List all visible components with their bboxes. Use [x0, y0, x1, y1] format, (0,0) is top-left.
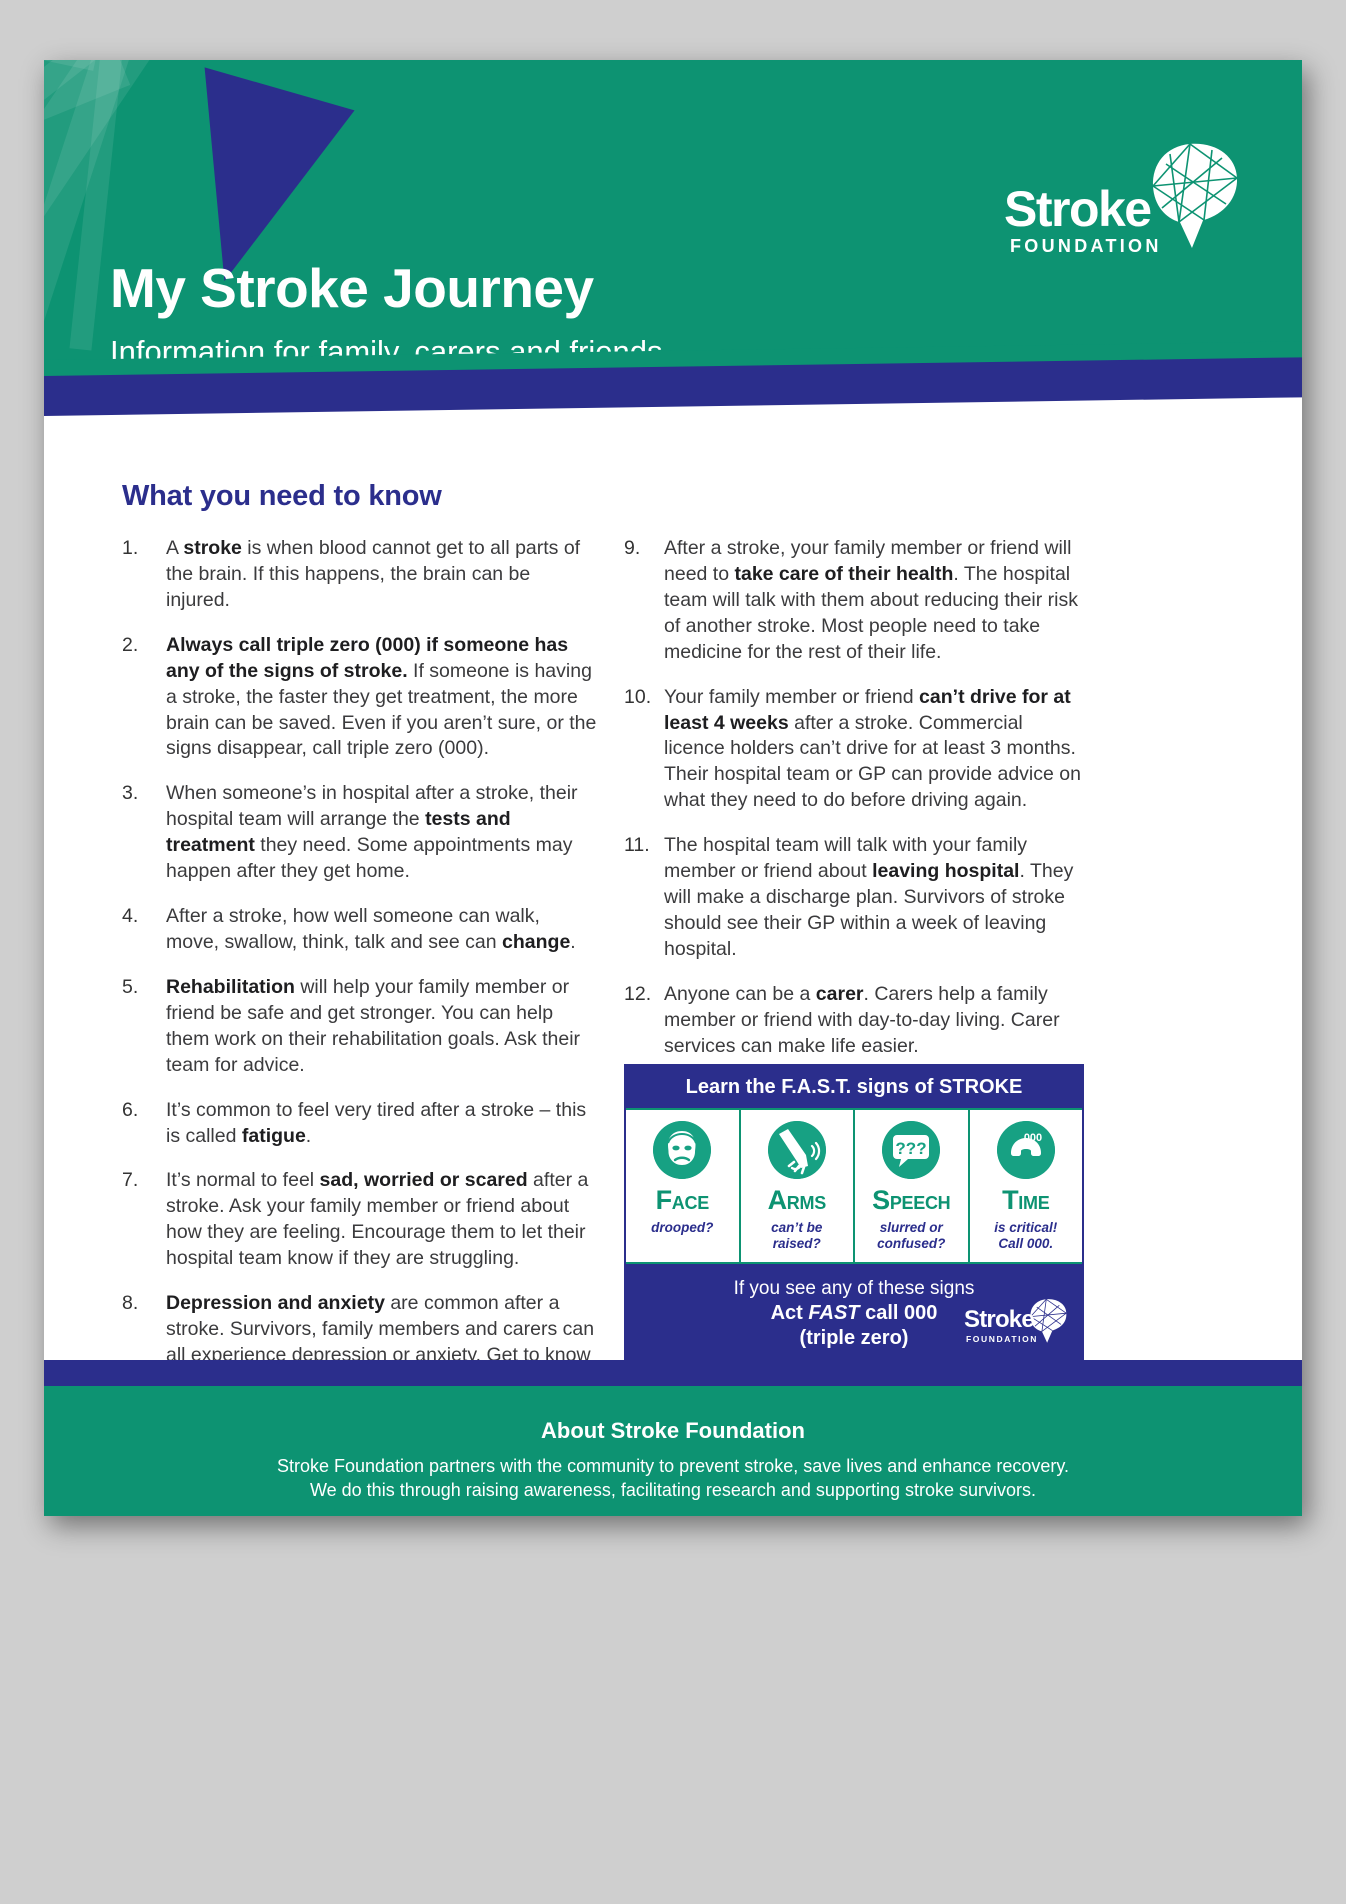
svg-text:???: ???: [896, 1139, 927, 1158]
fast-note: drooped?: [651, 1220, 713, 1236]
footer-line-2: We do this through raising awareness, fa…: [44, 1478, 1302, 1502]
list-item-number: 9.: [624, 536, 664, 666]
list-column-left: 1.A stroke is when blood cannot get to a…: [122, 536, 598, 1466]
fast-cell: ARMScan’t beraised?: [741, 1110, 856, 1262]
svg-text:000: 000: [1024, 1132, 1042, 1144]
list-item: 3.When someone’s in hospital after a str…: [122, 781, 598, 885]
footer-line-1: Stroke Foundation partners with the comm…: [44, 1454, 1302, 1478]
list-item-number: 11.: [624, 833, 664, 963]
fast-note: can’t beraised?: [771, 1220, 822, 1252]
fast-footer-call: call 000: [860, 1302, 938, 1324]
fast-logo-wordmark: Stroke: [964, 1306, 1034, 1334]
fast-logo-subtext: FOUNDATION: [966, 1334, 1038, 1344]
fast-box-heading: Learn the F.A.S.T. signs of STROKE: [626, 1066, 1082, 1108]
fast-word: FACE: [656, 1185, 709, 1216]
fast-box-footer: If you see any of these signs Act FAST c…: [626, 1264, 1082, 1364]
list-item-text: After a stroke, your family member or fr…: [664, 536, 1084, 666]
fast-footer-line2: Act FAST call 000: [771, 1302, 938, 1325]
section-heading: What you need to know: [122, 480, 442, 513]
list-item-number: 3.: [122, 781, 166, 885]
list-item-text: The hospital team will talk with your fa…: [664, 833, 1084, 963]
logo-wordmark: Stroke: [1004, 180, 1151, 238]
list-item: 11.The hospital team will talk with your…: [624, 833, 1084, 963]
arm-cannot-raise-icon: [768, 1121, 826, 1179]
list-item-text: After a stroke, how well someone can wal…: [166, 904, 598, 956]
phone-000-icon: 000: [997, 1121, 1055, 1179]
footer-heading: About Stroke Foundation: [44, 1418, 1302, 1444]
list-item-text: Anyone can be a carer. Carers help a fam…: [664, 982, 1084, 1060]
list-item-number: 6.: [122, 1098, 166, 1150]
fast-word: ARMS: [768, 1185, 826, 1216]
list-item-text: When someone’s in hospital after a strok…: [166, 781, 598, 885]
document-page: Stroke FOUNDATION My Stroke Journey Info…: [44, 60, 1302, 1516]
fast-footer-fast: FAST: [808, 1302, 859, 1324]
list-item: 10.Your family member or friend can’t dr…: [624, 685, 1084, 815]
fast-note: is critical!Call 000.: [994, 1220, 1057, 1252]
footer-body: Stroke Foundation partners with the comm…: [44, 1454, 1302, 1503]
fast-footer-act: Act: [771, 1302, 809, 1324]
stroke-foundation-logo: Stroke FOUNDATION: [1004, 146, 1244, 266]
list-item-number: 12.: [624, 982, 664, 1060]
list-item-number: 10.: [624, 685, 664, 815]
list-item-text: It’s common to feel very tired after a s…: [166, 1098, 598, 1150]
list-item-number: 5.: [122, 975, 166, 1079]
page-footer: About Stroke Foundation Stroke Foundatio…: [44, 1386, 1302, 1516]
fast-signs-box: Learn the F.A.S.T. signs of STROKE FACEd…: [624, 1064, 1084, 1364]
list-item: 1.A stroke is when blood cannot get to a…: [122, 536, 598, 614]
footer-navy-rule: [44, 1360, 1302, 1388]
list-item: 7.It’s normal to feel sad, worried or sc…: [122, 1168, 598, 1272]
logo-subtext: FOUNDATION: [1010, 236, 1162, 257]
list-item: 9.After a stroke, your family member or …: [624, 536, 1084, 666]
list-item-text: A stroke is when blood cannot get to all…: [166, 536, 598, 614]
list-column-right: 9.After a stroke, your family member or …: [624, 536, 1084, 1079]
list-item-number: 1.: [122, 536, 166, 614]
list-item-number: 7.: [122, 1168, 166, 1272]
content-area: What you need to know 1.A stroke is when…: [44, 420, 1302, 1420]
speech-bubble-question-icon: ???: [882, 1121, 940, 1179]
fast-footer-line3: (triple zero): [800, 1327, 909, 1350]
fast-note: slurred orconfused?: [877, 1220, 945, 1252]
list-item: 6.It’s common to feel very tired after a…: [122, 1098, 598, 1150]
fast-word: SPEECH: [872, 1185, 950, 1216]
page-title: My Stroke Journey: [110, 260, 594, 318]
fast-cell: 000TIMEis critical!Call 000.: [970, 1110, 1083, 1262]
face-drooped-icon: [653, 1121, 711, 1179]
fast-cell: FACEdrooped?: [626, 1110, 741, 1262]
list-item: 5.Rehabilitation will help your family m…: [122, 975, 598, 1079]
fast-cell: ???SPEECHslurred orconfused?: [855, 1110, 970, 1262]
list-item-text: Your family member or friend can’t drive…: [664, 685, 1084, 815]
list-item-text: It’s normal to feel sad, worried or scar…: [166, 1168, 598, 1272]
fast-cells: FACEdrooped?ARMScan’t beraised????SPEECH…: [626, 1108, 1082, 1264]
list-item: 4.After a stroke, how well someone can w…: [122, 904, 598, 956]
fast-word: TIME: [1002, 1185, 1049, 1216]
list-item-text: Always call triple zero (000) if someone…: [166, 633, 598, 763]
list-item: 12.Anyone can be a carer. Carers help a …: [624, 982, 1084, 1060]
fast-box-logo: Stroke FOUNDATION: [964, 1296, 1068, 1350]
fast-footer-line1: If you see any of these signs: [734, 1278, 975, 1300]
list-item-number: 2.: [122, 633, 166, 763]
list-item-text: Rehabilitation will help your family mem…: [166, 975, 598, 1079]
list-item: 2.Always call triple zero (000) if someo…: [122, 633, 598, 763]
list-item-number: 4.: [122, 904, 166, 956]
